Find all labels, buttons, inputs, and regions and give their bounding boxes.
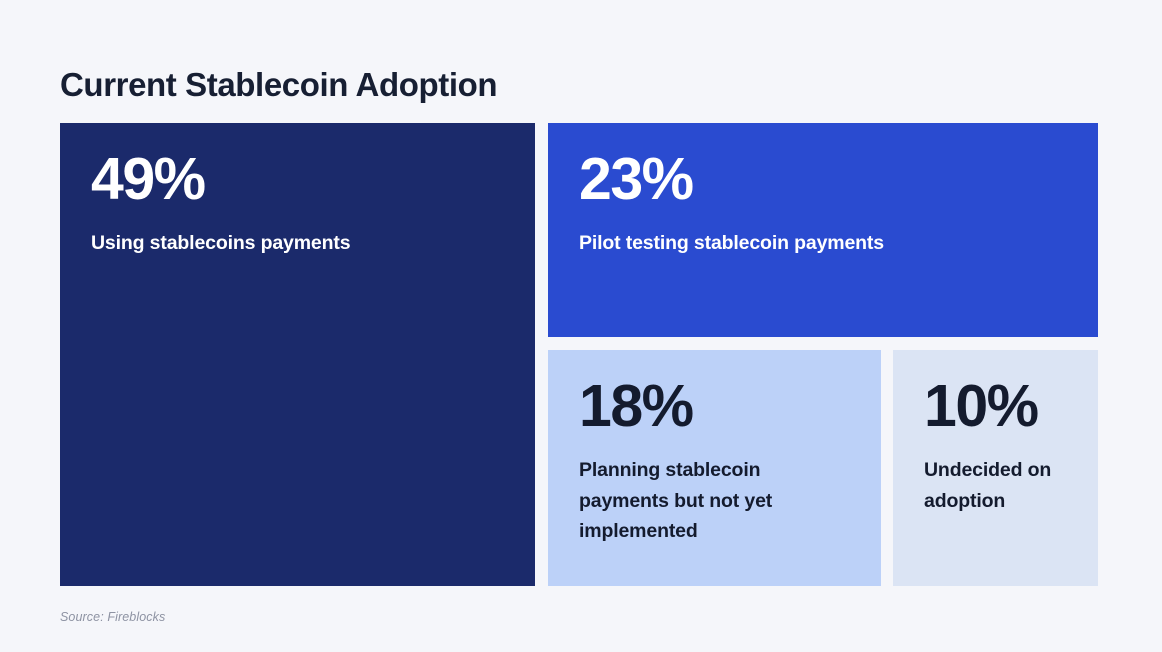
source-attribution: Source: Fireblocks <box>60 610 165 624</box>
stat-card-pilot: 23% Pilot testing stablecoin payments <box>548 123 1098 337</box>
stat-label-planning: Planning stablecoin payments but not yet… <box>579 455 851 547</box>
stat-label-pilot: Pilot testing stablecoin payments <box>579 228 889 259</box>
stat-label-using: Using stablecoins payments <box>91 228 361 259</box>
stat-card-grid: 49% Using stablecoins payments 23% Pilot… <box>60 123 1098 586</box>
stat-value-using: 49% <box>91 150 505 209</box>
stat-label-undecided: Undecided on adoption <box>924 455 1068 516</box>
page-title: Current Stablecoin Adoption <box>60 66 497 104</box>
infographic-page: Current Stablecoin Adoption 49% Using st… <box>0 0 1162 652</box>
stat-value-pilot: 23% <box>579 150 1068 209</box>
stat-card-undecided: 10% Undecided on adoption <box>893 350 1098 586</box>
stat-value-planning: 18% <box>579 377 851 436</box>
stat-value-undecided: 10% <box>924 377 1068 436</box>
stat-card-planning: 18% Planning stablecoin payments but not… <box>548 350 881 586</box>
stat-card-using: 49% Using stablecoins payments <box>60 123 535 586</box>
